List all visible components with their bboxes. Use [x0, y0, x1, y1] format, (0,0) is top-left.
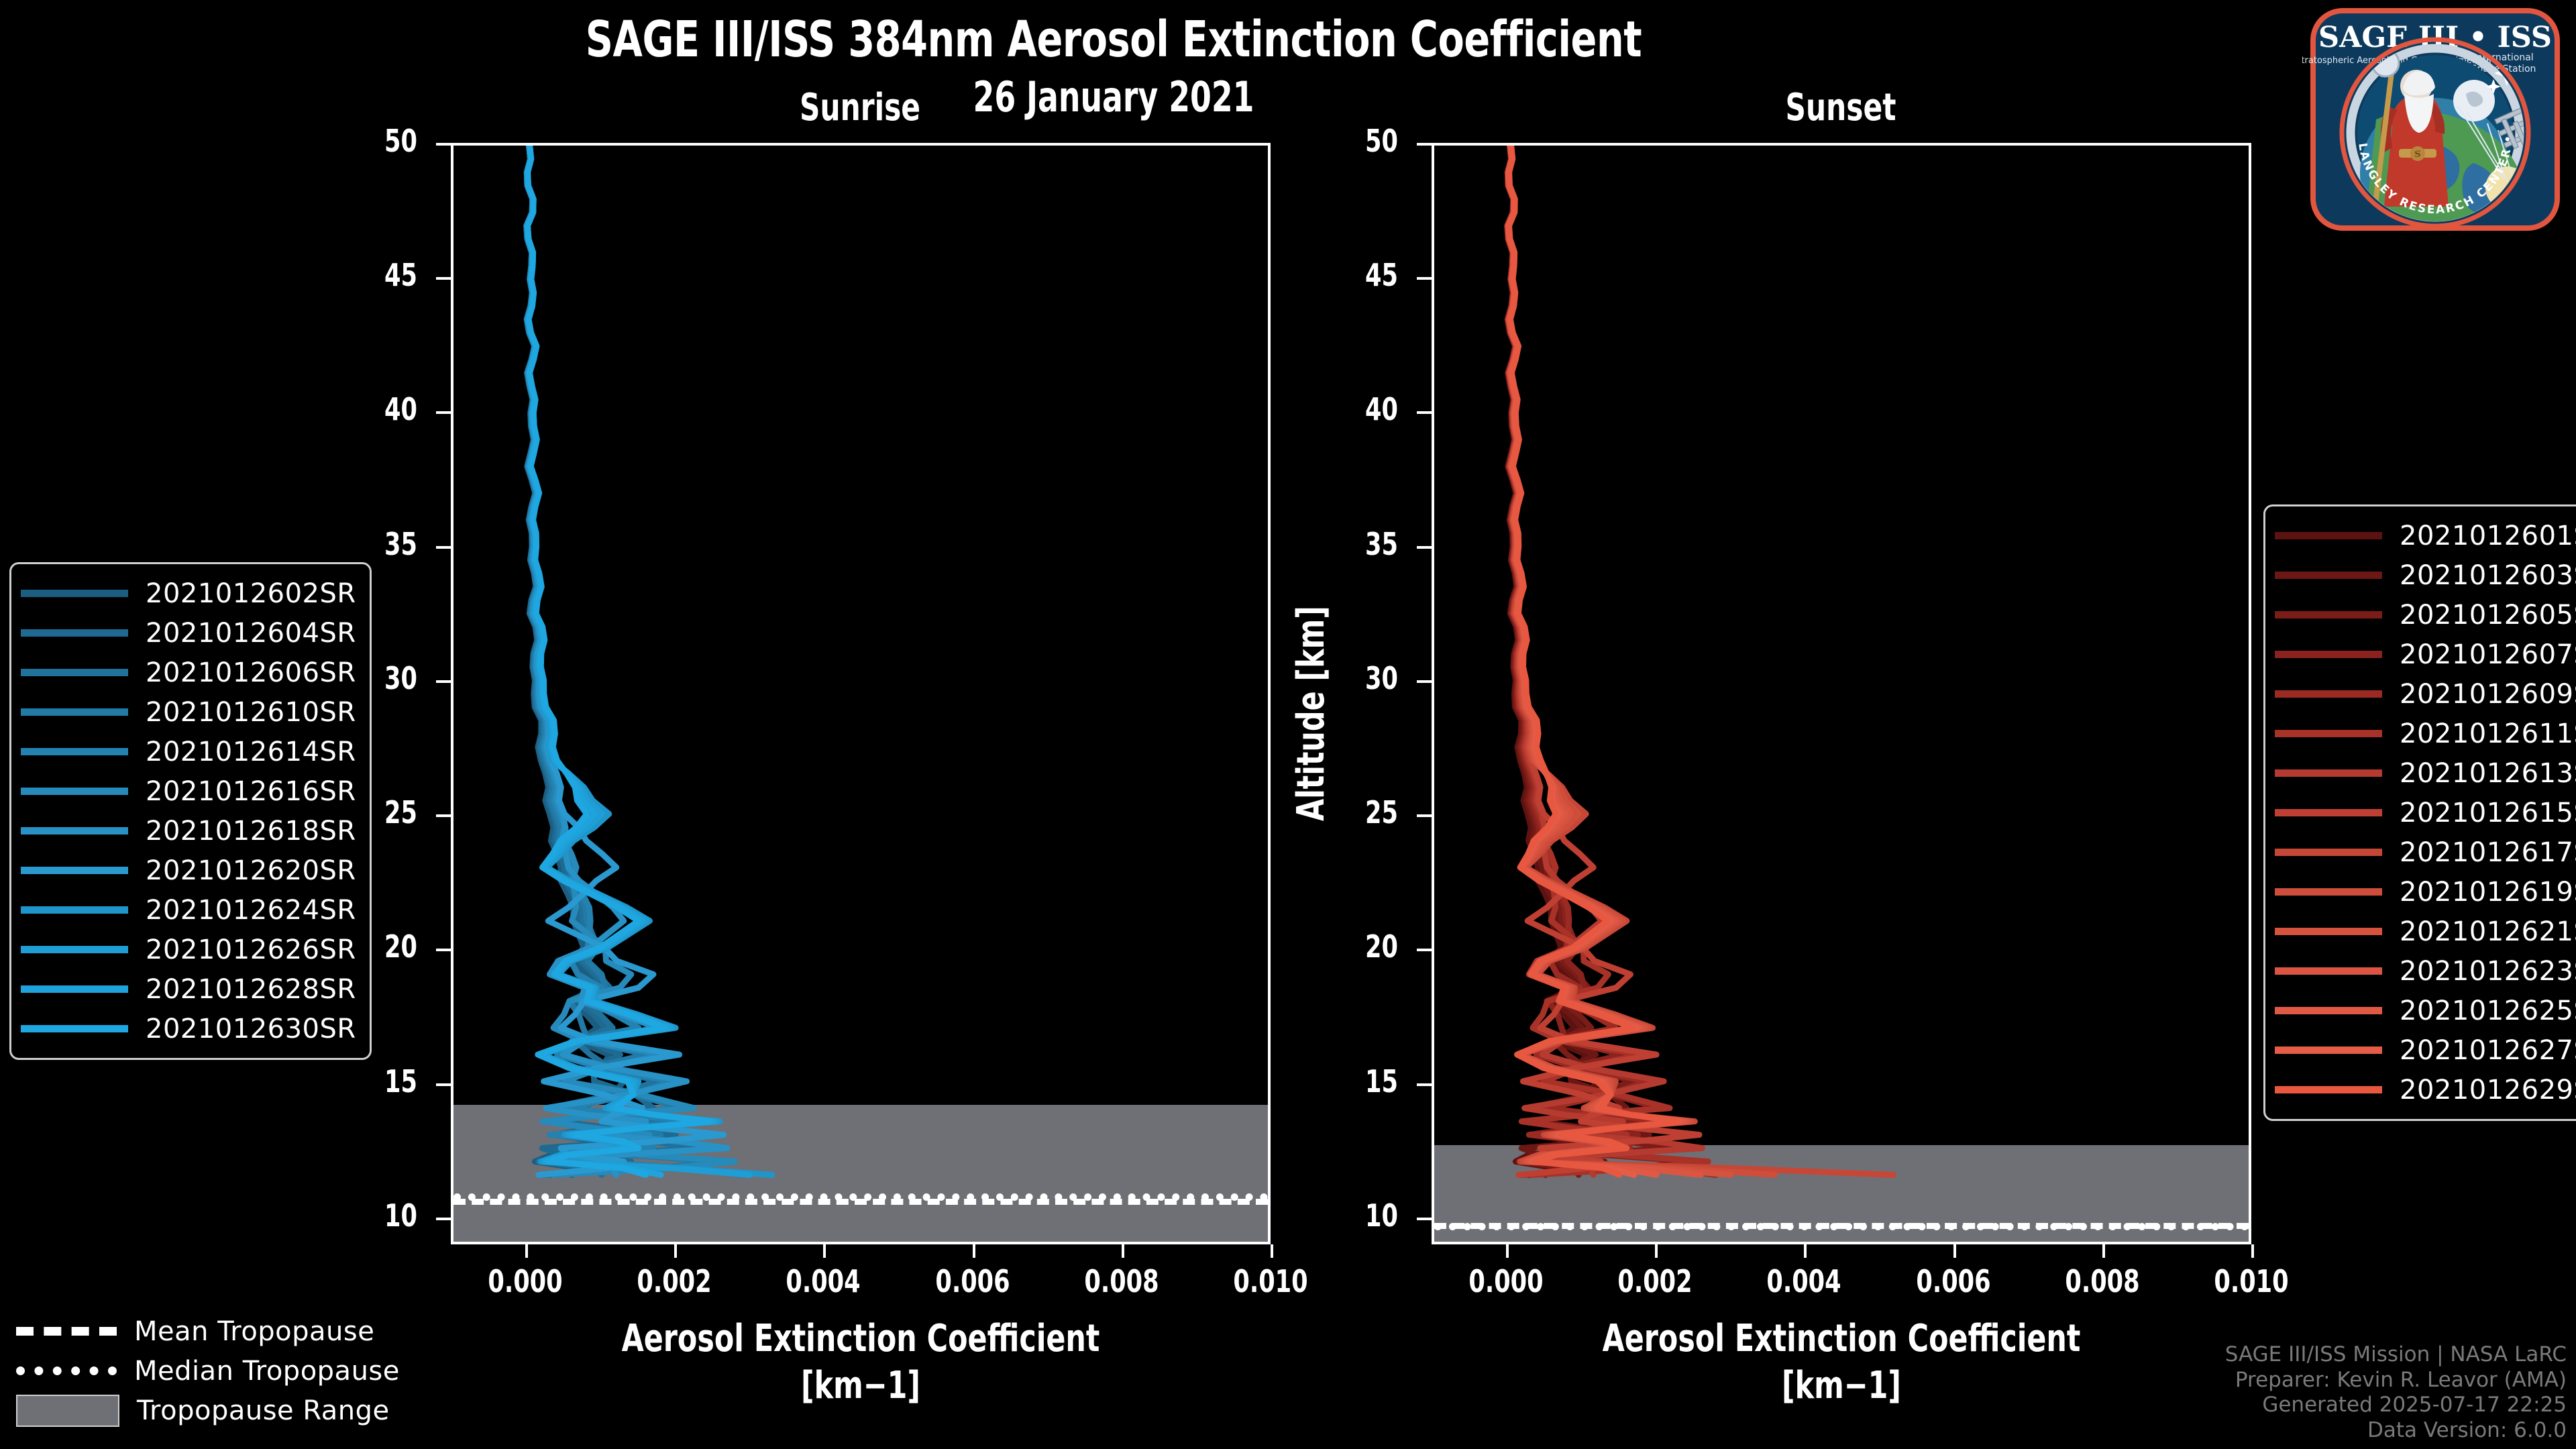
x-tick	[1506, 1244, 1509, 1258]
y-tick	[1417, 277, 1432, 280]
legend-color-swatch	[21, 590, 128, 597]
x-axis-unit: [km−1]	[1493, 1364, 2190, 1407]
y-tick	[1417, 546, 1432, 549]
mean-tropopause-swatch	[16, 1327, 117, 1336]
legend-tropopause: Mean Tropopause Median Tropopause Tropop…	[16, 1311, 400, 1430]
sage-iii-iss-logo: SAGE III • ISS Stratospheric Aerosol and…	[2302, 5, 2568, 233]
series-line	[527, 146, 698, 1175]
legend-item[interactable]: 2021012618SR	[21, 811, 356, 851]
credit-line-preparer: Preparer: Kevin R. Leavor (AMA)	[2225, 1368, 2567, 1393]
x-tick	[1953, 1244, 1956, 1258]
legend-label: 2021012602SR	[146, 578, 356, 609]
y-tick-label: 30	[1330, 660, 1398, 696]
legend-color-swatch	[2275, 769, 2382, 777]
legend-color-swatch	[21, 629, 128, 637]
tropopause-legend-label: Mean Tropopause	[134, 1316, 374, 1347]
y-tick-label: 40	[349, 391, 417, 427]
x-tick	[525, 1244, 528, 1258]
y-tick-label: 40	[1330, 391, 1398, 427]
credits-block: SAGE III/ISS Mission | NASA LaRC Prepare…	[2225, 1342, 2567, 1444]
legend-item[interactable]: 2021012620SR	[21, 851, 356, 890]
series-layer	[453, 146, 1268, 1242]
legend-color-swatch	[21, 1025, 128, 1032]
legend-label: 2021012604SR	[146, 618, 356, 649]
legend-label: 2021012619SS	[2400, 877, 2576, 908]
tropopause-legend-label: Median Tropopause	[134, 1356, 400, 1387]
legend-item[interactable]: 2021012606SR	[21, 653, 356, 692]
legend-item[interactable]: 2021012601SS	[2275, 516, 2576, 555]
legend-label: 2021012627SS	[2400, 1035, 2576, 1066]
legend-color-swatch	[21, 748, 128, 755]
legend-color-swatch	[2275, 928, 2382, 935]
legend-label: 2021012603SS	[2400, 560, 2576, 591]
y-tick-label: 15	[349, 1063, 417, 1099]
x-tick-label: 0.006	[1890, 1263, 2016, 1299]
median-tropopause-swatch	[16, 1366, 117, 1375]
legend-color-swatch	[2275, 888, 2382, 896]
tropopause-legend-item: Tropopause Range	[16, 1391, 400, 1430]
y-tick	[1417, 143, 1432, 146]
y-tick	[1417, 1083, 1432, 1086]
legend-sunset[interactable]: 2021012601SS 2021012603SS 2021012605SS 2…	[2263, 504, 2576, 1121]
page-title: SAGE III/ISS 384nm Aerosol Extinction Co…	[156, 11, 2071, 68]
legend-label: 2021012618SR	[146, 816, 356, 847]
legend-label: 2021012607SS	[2400, 639, 2576, 670]
svg-text:S: S	[2414, 150, 2420, 160]
legend-label: 2021012611SS	[2400, 718, 2576, 749]
x-tick	[1271, 1244, 1273, 1258]
legend-label: 2021012613SS	[2400, 758, 2576, 789]
legend-item[interactable]: 2021012616SR	[21, 771, 356, 811]
x-axis-title: Aerosol Extinction Coefficient	[1493, 1317, 2190, 1360]
legend-label: 2021012625SS	[2400, 996, 2576, 1026]
median-tropopause-line	[453, 1193, 1268, 1201]
y-tick	[436, 143, 451, 146]
legend-color-swatch	[21, 906, 128, 914]
credit-line-version: Data Version: 6.0.0	[2225, 1418, 2567, 1444]
x-axis-title: Aerosol Extinction Coefficient	[513, 1317, 1210, 1360]
median-tropopause-line	[1434, 1223, 2249, 1230]
plot-area-sunset	[1432, 143, 2251, 1244]
plot-area-sunrise	[451, 143, 1271, 1244]
y-tick-label: 50	[349, 123, 417, 159]
legend-color-swatch	[2275, 1086, 2382, 1093]
series-layer	[1434, 146, 2249, 1242]
legend-color-swatch	[2275, 572, 2382, 579]
x-tick-label: 0.002	[612, 1263, 737, 1299]
y-tick-label: 45	[1330, 257, 1398, 293]
series-line	[527, 146, 708, 1175]
x-tick	[2102, 1244, 2105, 1258]
legend-color-swatch	[2275, 849, 2382, 856]
x-tick-label: 0.006	[910, 1263, 1035, 1299]
x-tick-label: 0.008	[1059, 1263, 1184, 1299]
legend-item[interactable]: 2021012621SS	[2275, 912, 2576, 951]
legend-label: 2021012614SR	[146, 737, 356, 767]
legend-label: 2021012628SR	[146, 974, 356, 1005]
y-tick	[1417, 680, 1432, 683]
legend-sunrise[interactable]: 2021012602SR 2021012604SR 2021012606SR 2…	[9, 562, 372, 1060]
legend-color-swatch	[21, 669, 128, 676]
legend-label: 2021012605SS	[2400, 600, 2576, 631]
series-line	[1509, 146, 1677, 1175]
y-tick-label: 10	[349, 1197, 417, 1234]
legend-label: 2021012617SS	[2400, 837, 2576, 868]
legend-label: 2021012606SR	[146, 657, 356, 688]
legend-item[interactable]: 2021012605SS	[2275, 595, 2576, 635]
legend-item[interactable]: 2021012619SS	[2275, 872, 2576, 912]
legend-item[interactable]: 2021012628SR	[21, 969, 356, 1009]
legend-item[interactable]: 2021012609SS	[2275, 674, 2576, 714]
legend-color-swatch	[2275, 532, 2382, 539]
x-tick-label: 0.002	[1593, 1263, 1718, 1299]
credit-line-mission: SAGE III/ISS Mission | NASA LaRC	[2225, 1342, 2567, 1368]
y-tick	[1417, 949, 1432, 951]
legend-item[interactable]: 2021012611SS	[2275, 714, 2576, 753]
credit-line-generated: Generated 2025-07-17 22:25	[2225, 1393, 2567, 1418]
x-tick-label: 0.004	[761, 1263, 886, 1299]
legend-color-swatch	[2275, 1007, 2382, 1014]
legend-item[interactable]: 2021012617SS	[2275, 833, 2576, 872]
legend-label: 2021012616SR	[146, 776, 356, 807]
legend-label: 2021012621SS	[2400, 916, 2576, 947]
x-tick	[1804, 1244, 1807, 1258]
legend-item[interactable]: 2021012623SS	[2275, 951, 2576, 991]
x-tick-label: 0.008	[2039, 1263, 2165, 1299]
x-tick	[1655, 1244, 1658, 1258]
x-tick-label: 0.004	[1741, 1263, 1867, 1299]
y-tick	[436, 1083, 451, 1086]
panel-title-sunset: Sunset	[1666, 86, 2016, 129]
y-tick-label: 35	[349, 526, 417, 562]
legend-label: 2021012626SR	[146, 934, 356, 965]
x-tick	[1122, 1244, 1124, 1258]
y-tick-label: 10	[1330, 1197, 1398, 1234]
y-tick	[1417, 411, 1432, 414]
legend-color-swatch	[21, 867, 128, 874]
legend-item[interactable]: 2021012610SR	[21, 692, 356, 732]
legend-item[interactable]: 2021012614SR	[21, 732, 356, 771]
tropopause-range-swatch	[16, 1395, 119, 1427]
panel-title-sunrise: Sunrise	[686, 86, 1035, 129]
legend-item[interactable]: 2021012613SS	[2275, 753, 2576, 793]
x-tick-label: 0.000	[463, 1263, 588, 1299]
y-axis-title: Altitude [km]	[1289, 606, 1333, 821]
legend-label: 2021012609SS	[2400, 679, 2576, 710]
legend-label: 2021012623SS	[2400, 956, 2576, 987]
y-tick-label: 20	[1330, 928, 1398, 965]
legend-item[interactable]: 2021012615SS	[2275, 793, 2576, 833]
y-tick-label: 15	[1330, 1063, 1398, 1099]
legend-color-swatch	[21, 788, 128, 795]
y-tick	[436, 814, 451, 817]
legend-label: 2021012601SS	[2400, 521, 2576, 551]
legend-label: 2021012620SR	[146, 855, 356, 886]
series-line	[1509, 146, 1680, 1175]
legend-label: 2021012624SR	[146, 895, 356, 926]
legend-color-swatch	[21, 946, 128, 953]
x-tick-label: 0.010	[1208, 1263, 1334, 1299]
legend-item[interactable]: 2021012626SR	[21, 930, 356, 969]
legend-color-swatch	[21, 708, 128, 716]
y-tick	[436, 546, 451, 549]
tropopause-legend-item: Median Tropopause	[16, 1351, 400, 1391]
legend-color-swatch	[2275, 651, 2382, 658]
y-tick-label: 25	[1330, 794, 1398, 830]
legend-color-swatch	[2275, 967, 2382, 975]
legend-item[interactable]: 2021012624SR	[21, 890, 356, 930]
legend-item[interactable]: 2021012630SR	[21, 1009, 356, 1049]
legend-label: 2021012629SS	[2400, 1075, 2576, 1106]
x-tick	[823, 1244, 826, 1258]
tropopause-legend-label: Tropopause Range	[137, 1395, 390, 1426]
legend-item[interactable]: 2021012603SS	[2275, 555, 2576, 595]
legend-label: 2021012610SR	[146, 697, 356, 728]
legend-color-swatch	[2275, 1046, 2382, 1054]
x-tick	[674, 1244, 677, 1258]
legend-color-swatch	[2275, 730, 2382, 737]
legend-label: 2021012630SR	[146, 1014, 356, 1044]
x-tick-label: 0.000	[1444, 1263, 1569, 1299]
legend-item[interactable]: 2021012604SR	[21, 613, 356, 653]
legend-color-swatch	[2275, 690, 2382, 698]
legend-color-swatch	[2275, 809, 2382, 816]
y-tick	[436, 277, 451, 280]
tropopause-legend-item: Mean Tropopause	[16, 1311, 400, 1351]
series-line	[1507, 146, 1671, 1175]
x-tick	[2251, 1244, 2254, 1258]
legend-item[interactable]: 2021012627SS	[2275, 1030, 2576, 1070]
y-tick	[436, 1218, 451, 1220]
y-tick	[1417, 1218, 1432, 1220]
legend-label: 2021012615SS	[2400, 798, 2576, 828]
y-tick-label: 50	[1330, 123, 1398, 159]
y-tick	[1417, 814, 1432, 817]
x-tick-label: 0.010	[2189, 1263, 2314, 1299]
legend-color-swatch	[21, 985, 128, 993]
legend-color-swatch	[21, 827, 128, 835]
y-tick	[436, 949, 451, 951]
legend-item[interactable]: 2021012602SR	[21, 574, 356, 613]
y-tick-label: 35	[1330, 526, 1398, 562]
y-tick	[436, 411, 451, 414]
y-tick-label: 45	[349, 257, 417, 293]
legend-item[interactable]: 2021012607SS	[2275, 635, 2576, 674]
legend-color-swatch	[2275, 611, 2382, 619]
y-tick	[436, 680, 451, 683]
legend-item[interactable]: 2021012629SS	[2275, 1070, 2576, 1110]
legend-item[interactable]: 2021012625SS	[2275, 991, 2576, 1030]
x-axis-unit: [km−1]	[513, 1364, 1210, 1407]
x-tick	[973, 1244, 975, 1258]
